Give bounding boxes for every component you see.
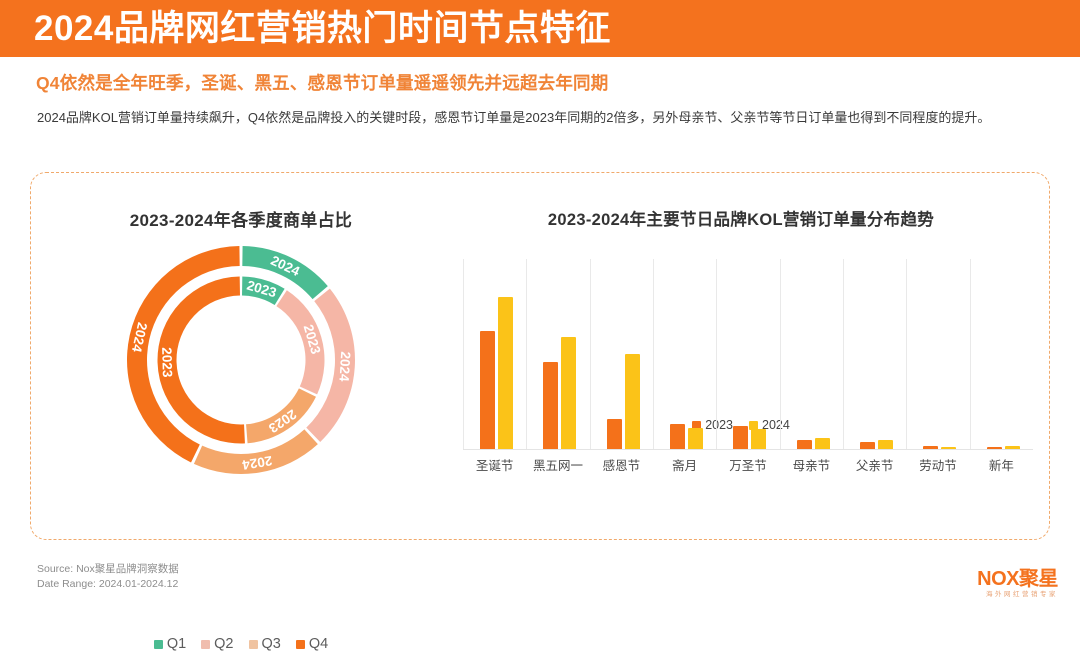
q1-swatch-icon bbox=[154, 640, 163, 649]
bar-2024-父亲节[interactable] bbox=[878, 440, 893, 450]
bar-chart-gridline bbox=[780, 259, 781, 449]
bar-chart-xlabel: 万圣节 bbox=[716, 455, 779, 474]
bar-chart-xlabel: 斋月 bbox=[653, 455, 716, 474]
date-range-line: Date Range: 2024.01-2024.12 bbox=[37, 577, 179, 592]
bar-2024-万圣节[interactable] bbox=[751, 429, 766, 449]
donut-legend-label-q2: Q2 bbox=[214, 636, 233, 652]
bar-2023-母亲节[interactable] bbox=[797, 440, 812, 450]
bar-2023-圣诞节[interactable] bbox=[480, 331, 495, 449]
bar-chart-title: 2023-2024年主要节日品牌KOL营销订单量分布趋势 bbox=[431, 206, 1051, 230]
bar-2023-父亲节[interactable] bbox=[860, 442, 875, 449]
source-info: Source: Nox聚星品牌洞察数据 Date Range: 2024.01-… bbox=[37, 562, 179, 592]
bar-2023-感恩节[interactable] bbox=[607, 419, 622, 449]
bar-chart-gridline bbox=[526, 259, 527, 449]
q3-swatch-icon bbox=[249, 640, 258, 649]
donut-segment-label: 2023 bbox=[159, 347, 175, 378]
bar-2024-新年[interactable] bbox=[1005, 446, 1020, 449]
donut-segment-label: 2024 bbox=[336, 351, 353, 382]
bar-chart-xlabel: 黑五网一 bbox=[526, 455, 589, 474]
donut-legend-item-q2[interactable]: Q2 bbox=[201, 636, 233, 652]
bar-2024-圣诞节[interactable] bbox=[498, 297, 513, 449]
bar-chart-xlabel: 父亲节 bbox=[843, 455, 906, 474]
bar-chart-xlabel: 母亲节 bbox=[780, 455, 843, 474]
page-title: 2024品牌网红营销热门时间节点特征 bbox=[34, 7, 611, 50]
bar-chart-gridline bbox=[716, 259, 717, 449]
donut-chart-svg: 20242024202420242023202320232023 bbox=[116, 235, 366, 485]
donut-legend: Q1 Q2 Q3 Q4 bbox=[31, 636, 451, 652]
bar-2023-黑五网一[interactable] bbox=[543, 362, 558, 449]
bar-2023-斋月[interactable] bbox=[670, 424, 685, 449]
bar-2023-劳动节[interactable] bbox=[923, 446, 938, 449]
logo-wordmark: NOX聚星 bbox=[977, 568, 1058, 590]
bar-chart-plot-area: 圣诞节黑五网一感恩节斋月万圣节母亲节父亲节劳动节新年 bbox=[463, 259, 1033, 449]
donut-legend-item-q1[interactable]: Q1 bbox=[154, 636, 186, 652]
donut-legend-item-q4[interactable]: Q4 bbox=[296, 636, 328, 652]
bar-chart-gridline bbox=[970, 259, 971, 449]
bar-chart-gridline bbox=[463, 259, 464, 449]
bar-chart-gridline bbox=[906, 259, 907, 449]
bar-2024-感恩节[interactable] bbox=[625, 354, 640, 449]
donut-chart-title: 2023-2024年各季度商单占比 bbox=[31, 206, 451, 231]
bar-chart-gridline bbox=[843, 259, 844, 449]
bar-chart-baseline bbox=[463, 449, 1033, 450]
donut-legend-label-q3: Q3 bbox=[262, 636, 281, 652]
bar-chart-xlabel: 感恩节 bbox=[590, 455, 653, 474]
subtitle-text: Q4依然是全年旺季，圣诞、黑五、感恩节订单量遥遥领先并远超去年同期 bbox=[36, 70, 608, 95]
bar-2024-母亲节[interactable] bbox=[815, 438, 830, 449]
donut-legend-label-q1: Q1 bbox=[167, 636, 186, 652]
bar-chart-gridline bbox=[653, 259, 654, 449]
bar-chart-xlabel: 圣诞节 bbox=[463, 455, 526, 474]
bar-2024-黑五网一[interactable] bbox=[561, 337, 576, 449]
brand-logo: NOX聚星 海外网红营销专家 bbox=[977, 568, 1058, 599]
donut-legend-item-q3[interactable]: Q3 bbox=[249, 636, 281, 652]
bar-2024-斋月[interactable] bbox=[688, 428, 703, 449]
bar-2023-新年[interactable] bbox=[987, 447, 1002, 449]
bar-2024-劳动节[interactable] bbox=[941, 447, 956, 449]
donut-chart-panel: 2023-2024年各季度商单占比 2024202420242024202320… bbox=[31, 173, 451, 541]
bar-chart-panel: 2023-2024年主要节日品牌KOL营销订单量分布趋势 2023 2024 圣… bbox=[431, 173, 1051, 541]
bar-chart-xlabel: 劳动节 bbox=[906, 455, 969, 474]
q4-swatch-icon bbox=[296, 640, 305, 649]
charts-card: 2023-2024年各季度商单占比 2024202420242024202320… bbox=[30, 172, 1050, 540]
source-line: Source: Nox聚星品牌洞察数据 bbox=[37, 562, 179, 577]
bar-chart-xlabel: 新年 bbox=[970, 455, 1033, 474]
description-text: 2024品牌KOL营销订单量持续飙升，Q4依然是品牌投入的关键时段，感恩节订单量… bbox=[37, 104, 1047, 131]
bar-chart-gridline bbox=[590, 259, 591, 449]
donut-legend-label-q4: Q4 bbox=[309, 636, 328, 652]
logo-tagline: 海外网红营销专家 bbox=[977, 590, 1058, 599]
bar-2023-万圣节[interactable] bbox=[733, 426, 748, 449]
q2-swatch-icon bbox=[201, 640, 210, 649]
